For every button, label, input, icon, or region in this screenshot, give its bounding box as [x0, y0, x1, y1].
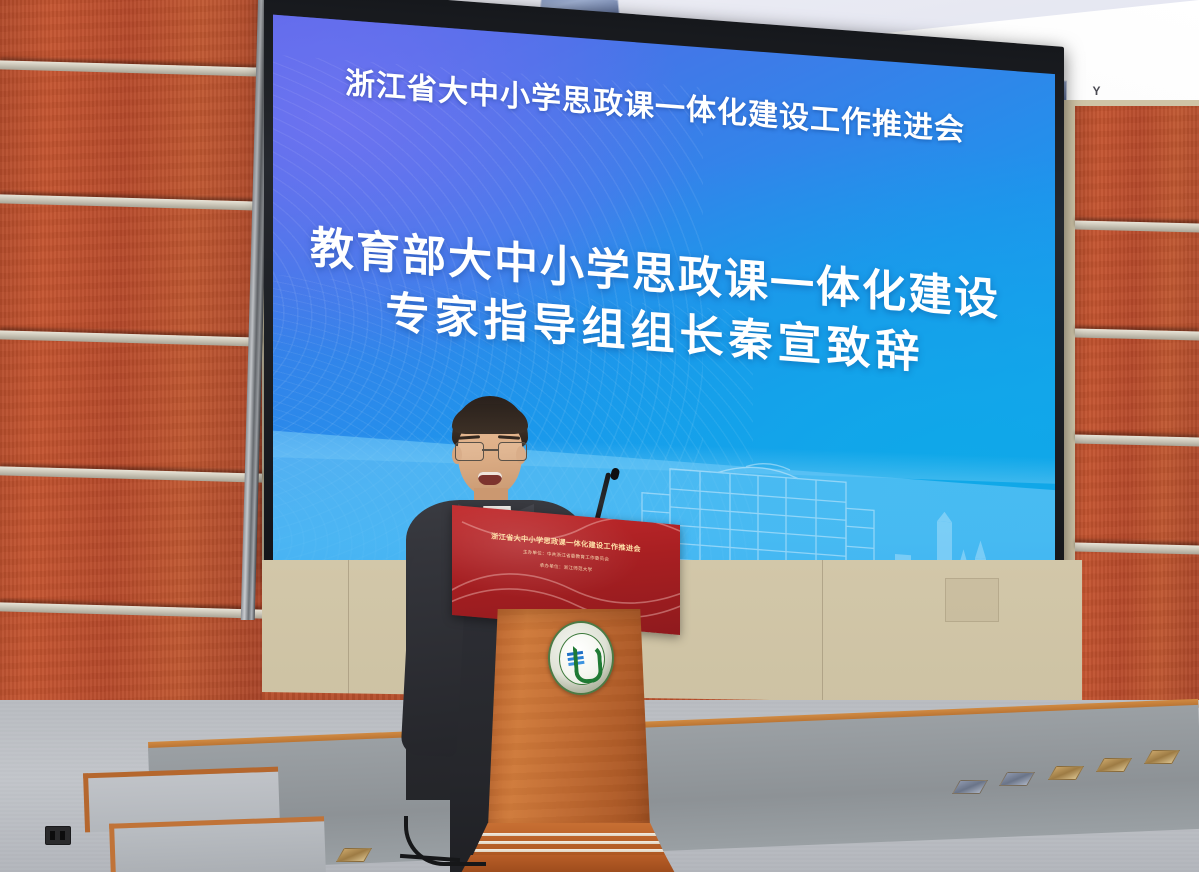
emblem-green-mark	[573, 644, 604, 684]
wall-patch	[945, 578, 999, 622]
screen-main-title: 教育部大中小学思政课一体化建设 专家指导组组长秦宣致辞	[264, 216, 1046, 393]
university-emblem	[548, 621, 614, 695]
wood-wall-right	[1075, 106, 1199, 746]
conference-hall-photo: 浙江省大中小学思政课一体化建设工作推进会 教育部大中小学思政课一体化建设 专家指…	[0, 0, 1199, 872]
podium-foot	[460, 855, 676, 872]
podium: 浙江省大中小学思政课一体化建设工作推进会 主办单位：中共浙江省委教育工作委员会 …	[452, 505, 680, 872]
emblem-inner-ring	[559, 633, 605, 685]
screen-header-title: 浙江省大中小学思政课一体化建设工作推进会	[264, 52, 1046, 155]
wall-power-outlet	[45, 826, 71, 845]
wood-wall-left	[0, 0, 262, 760]
stage-step-lower	[109, 816, 326, 872]
hair-front	[452, 404, 528, 434]
eyeglasses-icon	[454, 442, 526, 459]
mouth	[478, 472, 502, 485]
fire-sprinkler-icon	[1092, 86, 1101, 97]
screen-text-layer: 浙江省大中小学思政课一体化建设工作推进会 教育部大中小学思政课一体化建设 专家指…	[264, 0, 1046, 591]
